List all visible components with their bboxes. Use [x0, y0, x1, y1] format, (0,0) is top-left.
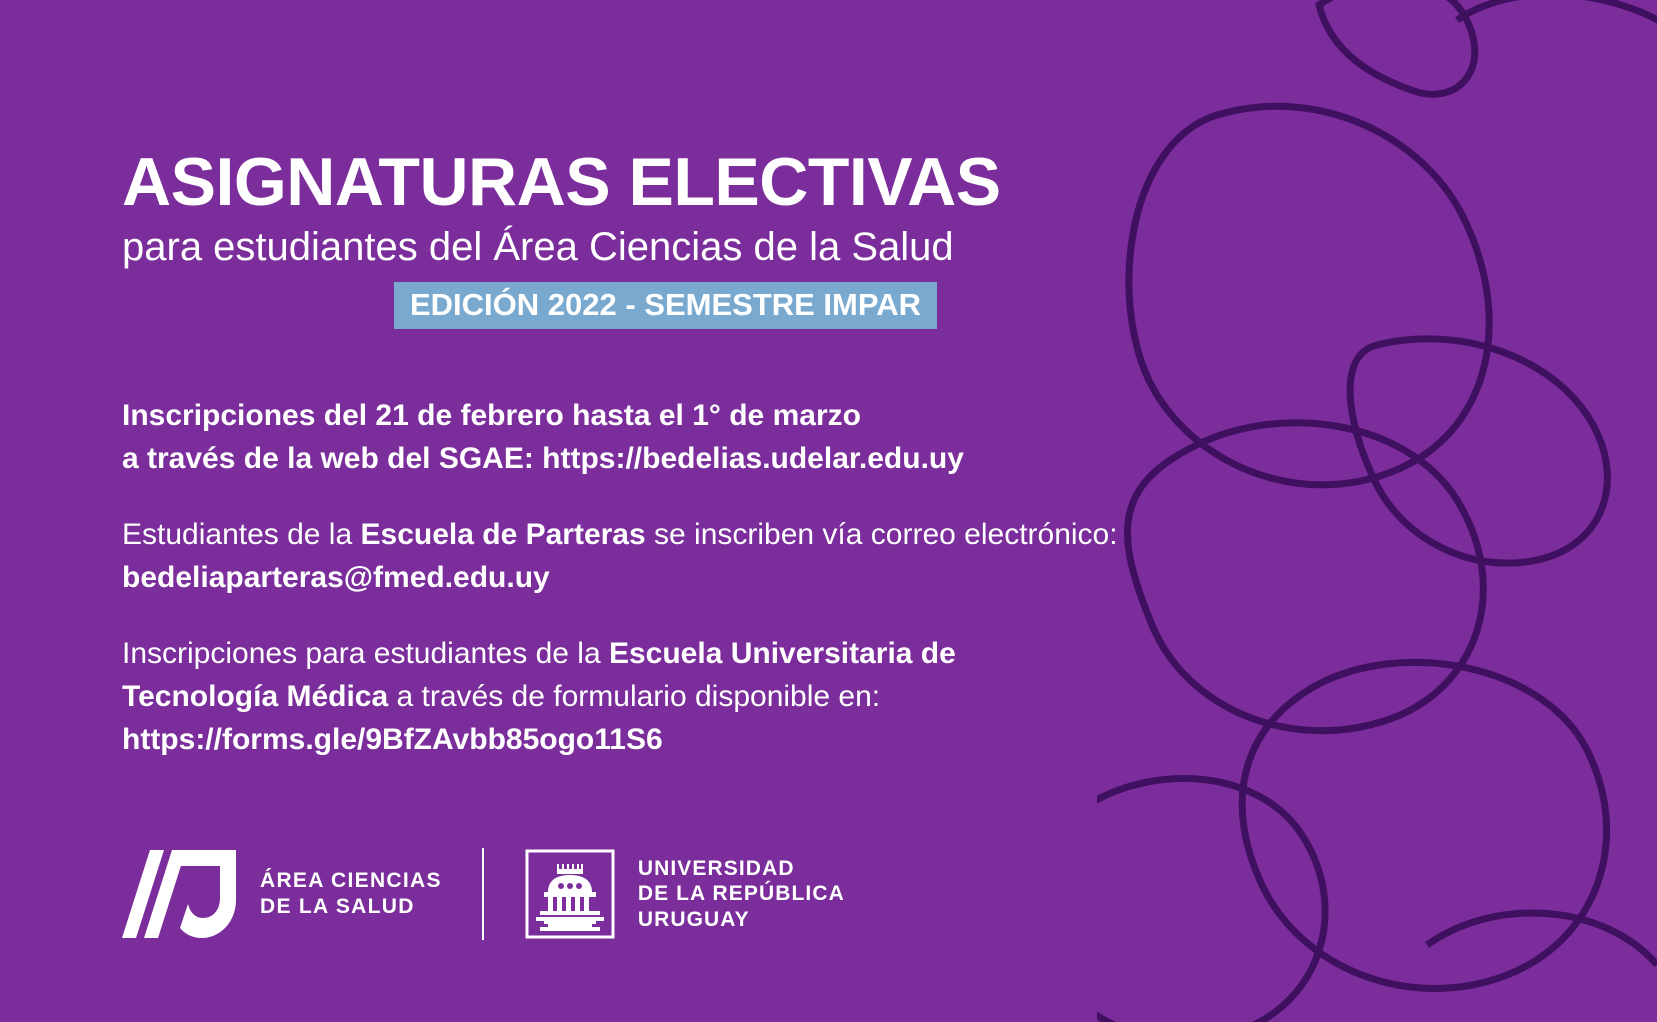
- eutm-form-url[interactable]: https://forms.gle/9BfZAvbb85ogo11S6: [122, 723, 663, 756]
- footer-divider: [482, 848, 484, 940]
- parteras-emphasis: Escuela de Parteras: [361, 518, 646, 551]
- udelar-building-icon: [524, 848, 616, 940]
- page-title: ASIGNATURAS ELECTIVAS: [122, 148, 1120, 216]
- badge-row: EDICIÓN 2022 - SEMESTRE IMPAR: [122, 282, 937, 329]
- eutm-emphasis-part-1: Escuela Universitaria de: [609, 637, 956, 670]
- poster-root: ASIGNATURAS ELECTIVAS para estudiantes d…: [0, 0, 1657, 1022]
- acs-logo: ÁREA CIENCIAS DE LA SALUD: [122, 848, 442, 940]
- udelar-logo-line-2: DE LA REPÚBLICA: [638, 881, 845, 907]
- udelar-logo-line-1: UNIVERSIDAD: [638, 856, 845, 882]
- footer-logos: ÁREA CIENCIAS DE LA SALUD: [122, 848, 845, 940]
- eutm-paragraph: Inscripciones para estudiantes de la Esc…: [122, 633, 1120, 761]
- decorative-blobs: [1097, 0, 1657, 1022]
- eutm-line-1: Inscripciones para estudiantes de la Esc…: [122, 633, 1120, 676]
- eutm-line-2: Tecnología Médica a través de formulario…: [122, 676, 1120, 719]
- acs-logo-line-1: ÁREA CIENCIAS: [260, 868, 442, 894]
- udelar-logo-line-3: URUGUAY: [638, 907, 845, 933]
- eutm-tail: a través de formulario disponible en:: [388, 680, 880, 713]
- udelar-logo: UNIVERSIDAD DE LA REPÚBLICA URUGUAY: [524, 848, 845, 940]
- eutm-emphasis-part-2: Tecnología Médica: [122, 680, 388, 713]
- inscriptions-paragraph: Inscripciones del 21 de febrero hasta el…: [122, 395, 1120, 480]
- udelar-logo-text: UNIVERSIDAD DE LA REPÚBLICA URUGUAY: [638, 856, 845, 933]
- acs-logo-line-2: DE LA SALUD: [260, 894, 442, 920]
- page-subtitle: para estudiantes del Área Ciencias de la…: [122, 226, 1120, 268]
- inscriptions-line-1: Inscripciones del 21 de febrero hasta el…: [122, 395, 1120, 438]
- parteras-paragraph: Estudiantes de la Escuela de Parteras se…: [122, 514, 1120, 599]
- parteras-lead: Estudiantes de la: [122, 518, 361, 551]
- parteras-email[interactable]: bedeliaparteras@fmed.edu.uy: [122, 561, 550, 594]
- acs-monogram-icon: [122, 848, 238, 940]
- acs-logo-text: ÁREA CIENCIAS DE LA SALUD: [260, 868, 442, 919]
- eutm-lead: Inscripciones para estudiantes de la: [122, 637, 609, 670]
- poster-content: ASIGNATURAS ELECTIVAS para estudiantes d…: [0, 0, 1120, 761]
- inscriptions-line-2[interactable]: a través de la web del SGAE: https://bed…: [122, 438, 1120, 481]
- parteras-tail: se inscriben vía correo electrónico:: [646, 518, 1118, 551]
- body-text-block: Inscripciones del 21 de febrero hasta el…: [122, 395, 1120, 761]
- edition-badge: EDICIÓN 2022 - SEMESTRE IMPAR: [394, 282, 937, 329]
- parteras-line-1: Estudiantes de la Escuela de Parteras se…: [122, 514, 1120, 557]
